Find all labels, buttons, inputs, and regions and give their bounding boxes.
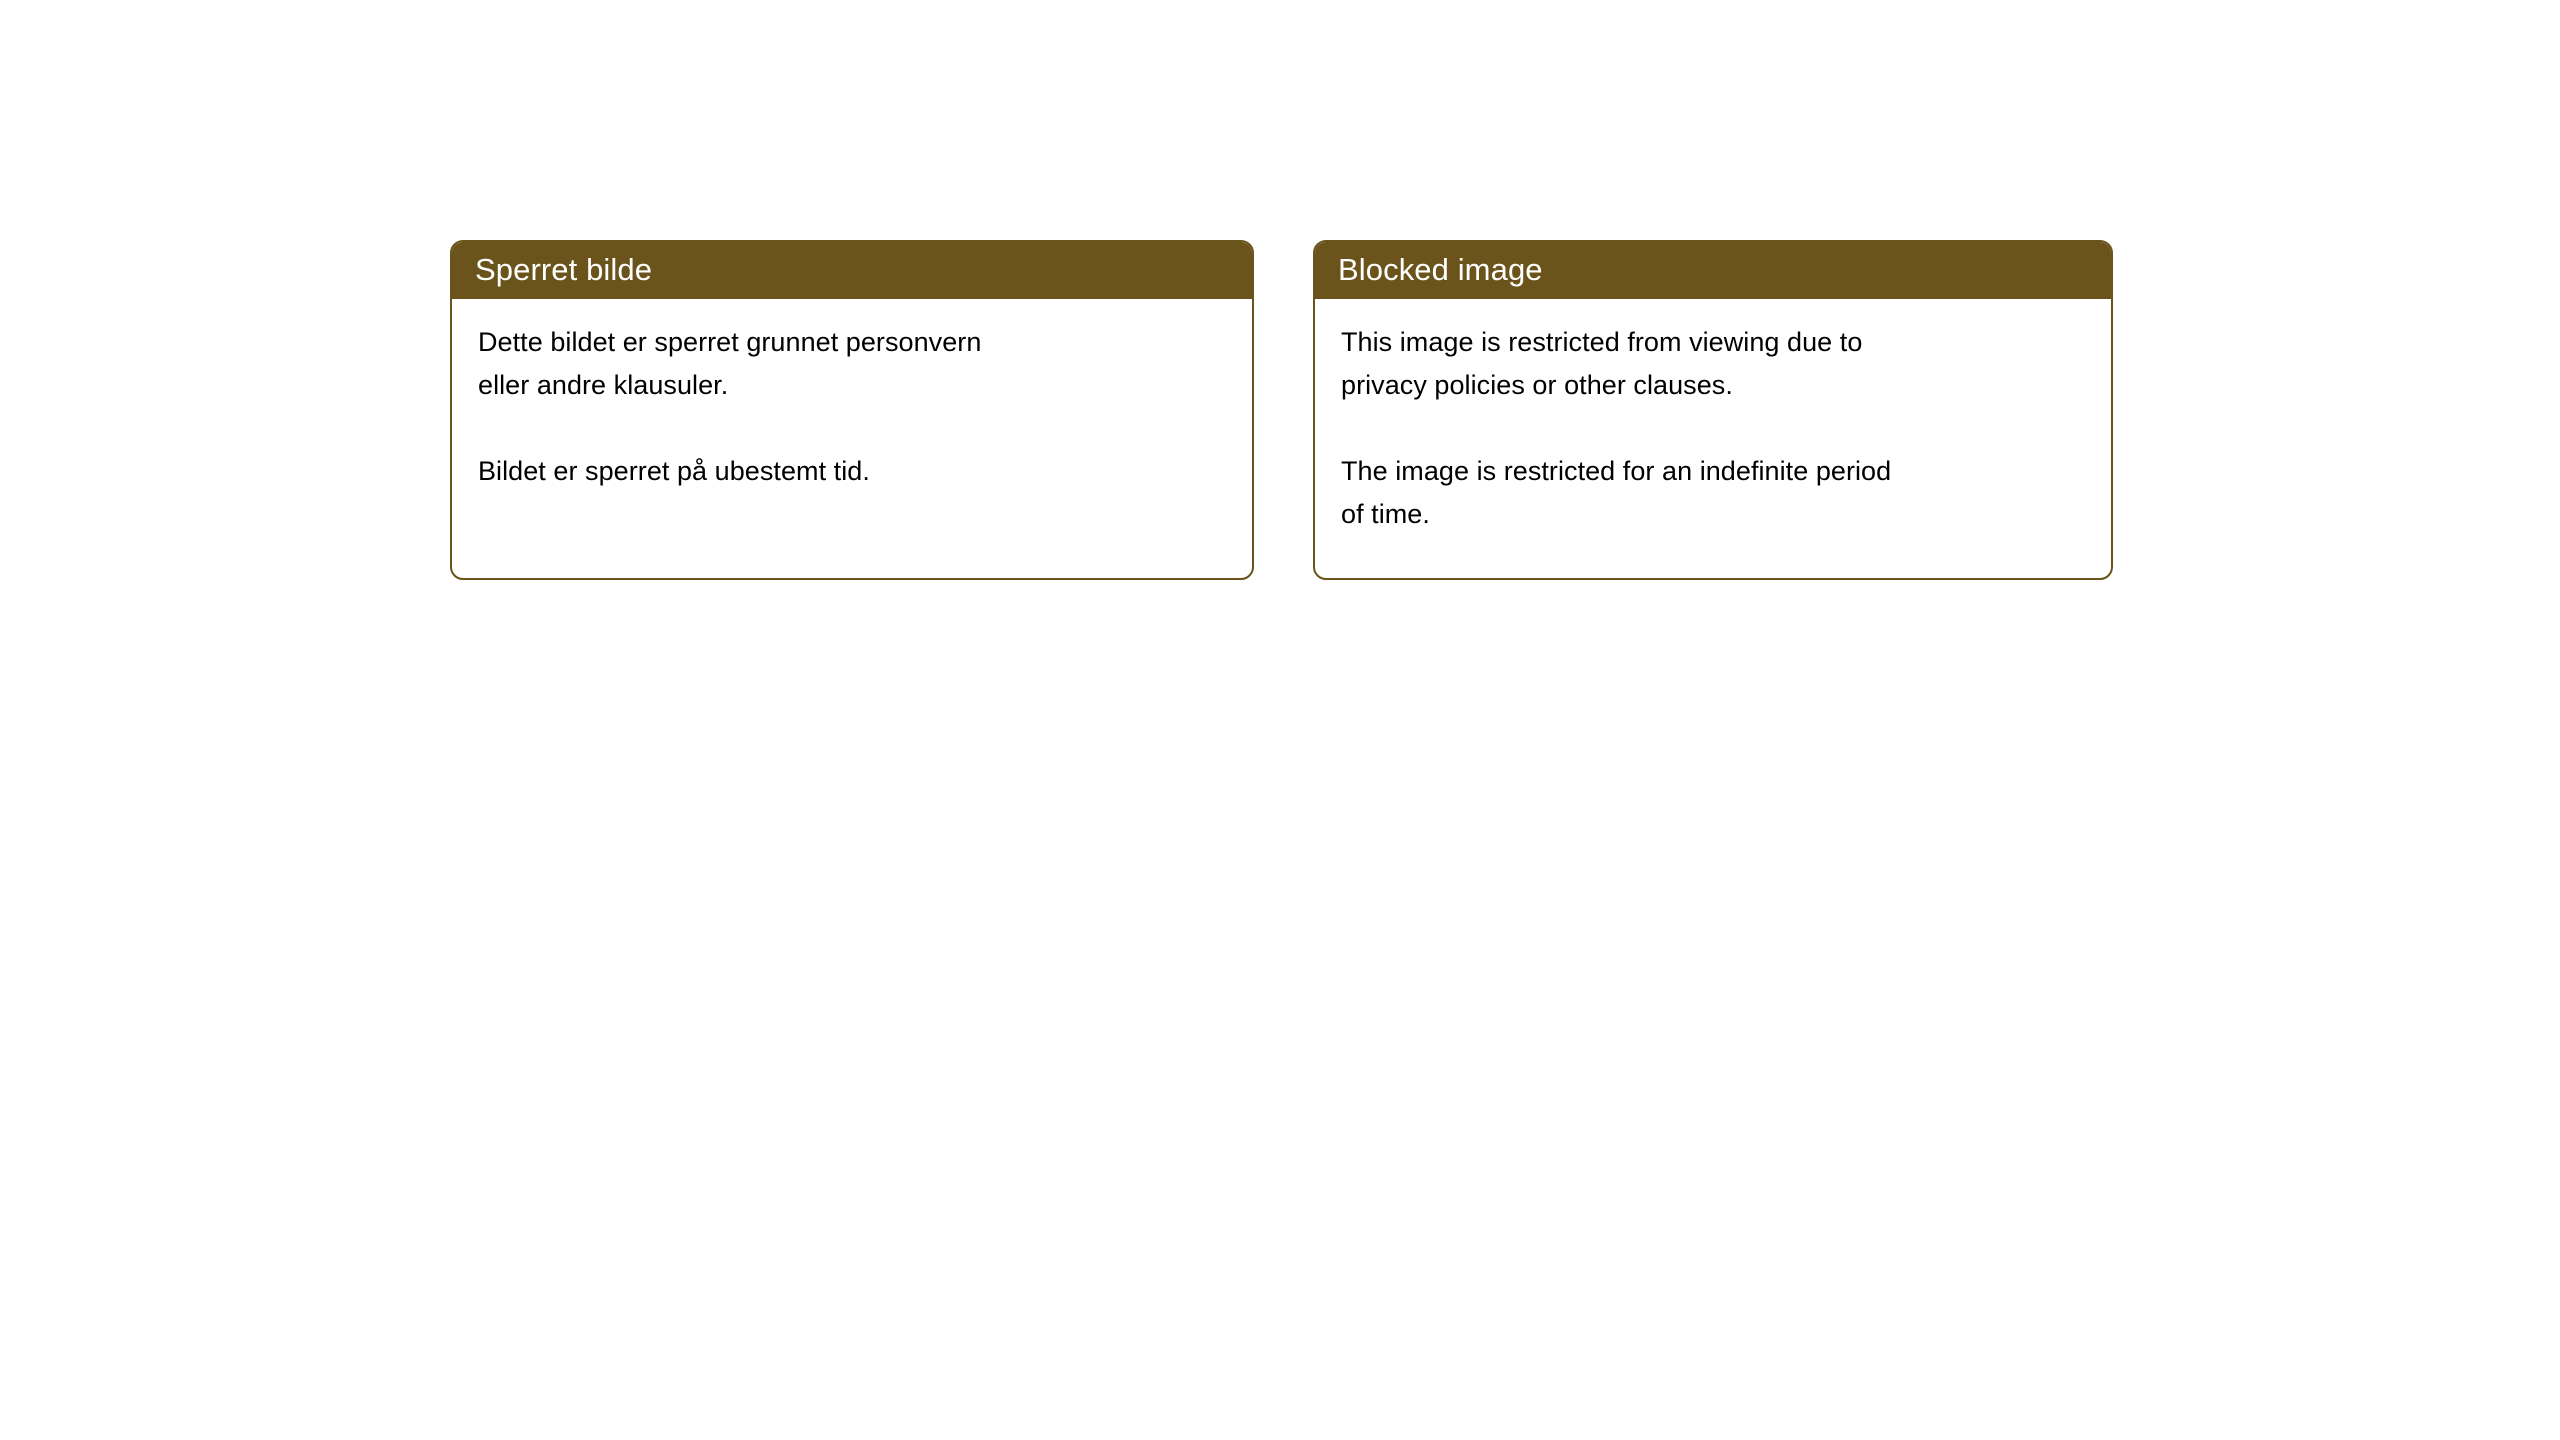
card-paragraph: This image is restricted from viewing du… — [1341, 321, 2085, 407]
paragraph-line: eller andre klausuler. — [478, 364, 1226, 407]
paragraph-line: The image is restricted for an indefinit… — [1341, 450, 2085, 493]
blocked-image-notice-card-norwegian: Sperret bilde Dette bildet er sperret gr… — [450, 240, 1254, 580]
paragraph-line: Dette bildet er sperret grunnet personve… — [478, 321, 1226, 364]
paragraph-line: of time. — [1341, 493, 2085, 536]
card-paragraph: The image is restricted for an indefinit… — [1341, 450, 2085, 536]
paragraph-line: Bildet er sperret på ubestemt tid. — [478, 450, 1226, 493]
paragraph-line: This image is restricted from viewing du… — [1341, 321, 2085, 364]
card-header-english: Blocked image — [1314, 241, 2112, 299]
card-paragraph: Dette bildet er sperret grunnet personve… — [478, 321, 1226, 407]
card-body-english: This image is restricted from viewing du… — [1315, 299, 2111, 536]
card-body-norwegian: Dette bildet er sperret grunnet personve… — [452, 299, 1252, 493]
card-paragraph: Bildet er sperret på ubestemt tid. — [478, 450, 1226, 493]
paragraph-line: privacy policies or other clauses. — [1341, 364, 2085, 407]
blocked-image-notice-card-english: Blocked image This image is restricted f… — [1313, 240, 2113, 580]
card-title-english: Blocked image — [1338, 253, 1543, 287]
page-canvas: Sperret bilde Dette bildet er sperret gr… — [0, 0, 2560, 1440]
card-header-norwegian: Sperret bilde — [451, 241, 1253, 299]
card-title-norwegian: Sperret bilde — [475, 253, 652, 287]
